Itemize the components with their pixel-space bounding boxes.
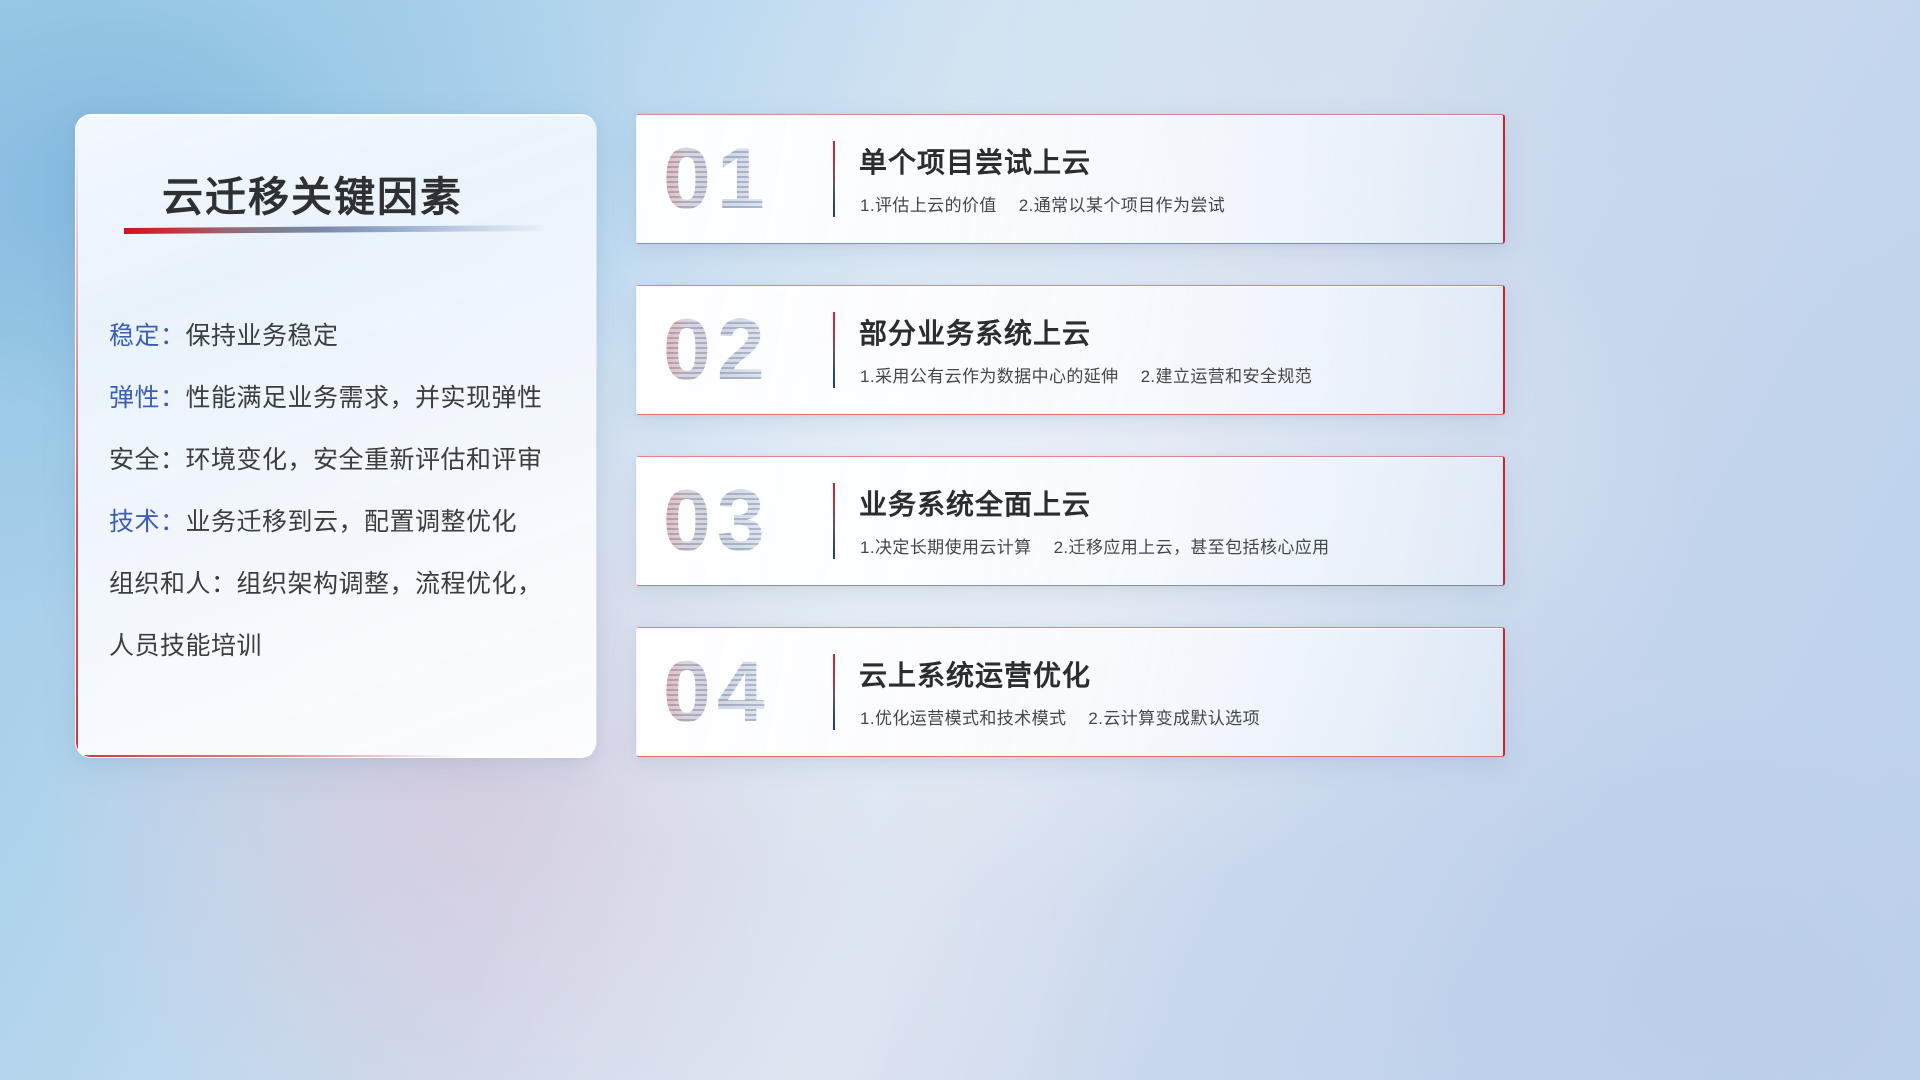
slide-canvas: 云迁移关键因素 稳定：保持业务稳定 弹性：性能满足业务需求，并实现弹性 安全：环… <box>0 0 1920 1080</box>
list-item: 稳定：保持业务稳定 <box>109 305 578 367</box>
stage-description: 1.采用公有云作为数据中心的延伸2.建立运营和安全规范 <box>860 362 1312 387</box>
stage-desc-part-2: 2.建立运营和安全规范 <box>1141 367 1313 386</box>
list-item-text: 组织架构调整，流程优化， <box>237 570 543 598</box>
stage-desc-part-2: 2.云计算变成默认选项 <box>1088 709 1260 728</box>
stage-card[interactable]: 03 业务系统全面上云 1.决定长期使用云计算2.迁移应用上云，甚至包括核心应用 <box>636 456 1505 586</box>
list-item: 弹性：性能满足业务需求，并实现弹性 <box>109 367 578 429</box>
stage-accent-line <box>833 141 835 217</box>
stage-title: 云上系统运营优化 <box>859 654 1091 694</box>
stage-description: 1.优化运营模式和技术模式2.云计算变成默认选项 <box>860 704 1260 729</box>
list-item-text: 性能满足业务需求，并实现弹性 <box>186 384 543 412</box>
stage-desc-part-1: 1.采用公有云作为数据中心的延伸 <box>860 367 1119 386</box>
stage-desc-part-1: 1.优化运营模式和技术模式 <box>860 709 1066 728</box>
stage-description: 1.决定长期使用云计算2.迁移应用上云，甚至包括核心应用 <box>860 533 1330 558</box>
stage-number: 04 <box>663 649 771 735</box>
list-item: 技术：业务迁移到云，配置调整优化 <box>109 491 578 553</box>
key-factors-panel: 云迁移关键因素 稳定：保持业务稳定 弹性：性能满足业务需求，并实现弹性 安全：环… <box>75 114 597 758</box>
stage-number: 02 <box>663 307 771 393</box>
stage-number: 01 <box>663 136 771 222</box>
stage-accent-line <box>833 483 835 559</box>
stage-description: 1.评估上云的价值2.通常以某个项目作为尝试 <box>860 191 1225 216</box>
list-item-label: 技术： <box>109 508 186 536</box>
stage-card[interactable]: 02 部分业务系统上云 1.采用公有云作为数据中心的延伸2.建立运营和安全规范 <box>636 285 1505 415</box>
list-item-continuation: 人员技能培训 <box>109 615 578 677</box>
stage-desc-part-1: 1.评估上云的价值 <box>860 196 997 215</box>
list-item-text: 环境变化，安全重新评估和评审 <box>186 446 543 474</box>
list-item-text: 人员技能培训 <box>109 632 262 660</box>
list-item-label: 安全： <box>109 446 186 474</box>
stage-desc-part-2: 2.迁移应用上云，甚至包括核心应用 <box>1054 538 1330 557</box>
list-item-label: 稳定： <box>109 322 186 350</box>
list-item-text: 业务迁移到云，配置调整优化 <box>186 508 518 536</box>
list-item: 安全：环境变化，安全重新评估和评审 <box>109 429 578 491</box>
stage-title: 单个项目尝试上云 <box>859 141 1091 181</box>
stage-card[interactable]: 04 云上系统运营优化 1.优化运营模式和技术模式2.云计算变成默认选项 <box>636 627 1505 757</box>
list-item-text: 保持业务稳定 <box>186 322 339 350</box>
list-item-label: 弹性： <box>109 384 186 412</box>
stage-title: 业务系统全面上云 <box>859 483 1091 523</box>
key-factors-list: 稳定：保持业务稳定 弹性：性能满足业务需求，并实现弹性 安全：环境变化，安全重新… <box>109 305 578 677</box>
stage-title: 部分业务系统上云 <box>859 312 1091 352</box>
title-underline-accent <box>124 225 544 234</box>
list-item-label: 组织和人： <box>109 570 237 598</box>
stage-desc-part-1: 1.决定长期使用云计算 <box>860 538 1032 557</box>
stage-desc-part-2: 2.通常以某个项目作为尝试 <box>1019 196 1225 215</box>
panel-title: 云迁移关键因素 <box>162 163 463 223</box>
stage-number: 03 <box>663 478 771 564</box>
stage-accent-line <box>833 654 835 730</box>
stage-card[interactable]: 01 单个项目尝试上云 1.评估上云的价值2.通常以某个项目作为尝试 <box>636 114 1505 244</box>
list-item: 组织和人：组织架构调整，流程优化， <box>109 553 578 615</box>
stage-accent-line <box>833 312 835 388</box>
